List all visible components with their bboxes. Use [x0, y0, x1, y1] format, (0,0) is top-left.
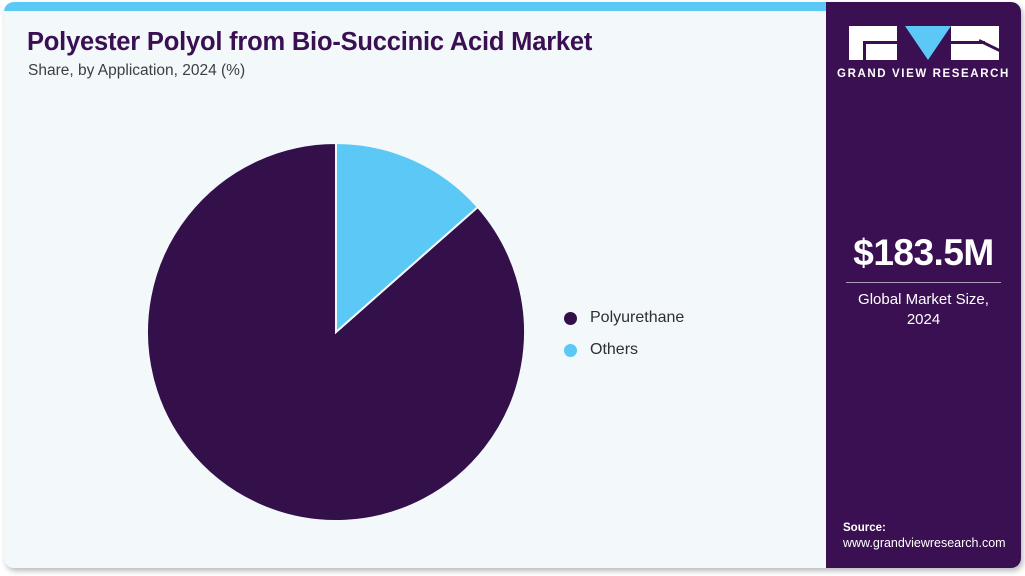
- legend-item-label: Polyurethane: [590, 309, 684, 327]
- legend-item-polyurethane[interactable]: Polyurethane: [564, 302, 684, 334]
- logo-wordmark: GRAND VIEW RESEARCH: [826, 68, 1021, 80]
- legend-item-others[interactable]: Others: [564, 334, 684, 366]
- logo-letter-g-icon: [849, 26, 897, 60]
- market-size-value: $183.5M: [826, 234, 1021, 273]
- gvr-logo-mark: [849, 26, 999, 60]
- legend-swatch-icon: [564, 312, 577, 325]
- chart-legend: Polyurethane Others: [564, 302, 684, 366]
- pie-chart: [4, 2, 826, 568]
- legend-swatch-icon: [564, 344, 577, 357]
- logo-letter-r-icon: [951, 26, 999, 60]
- source-url[interactable]: www.grandviewresearch.com: [843, 536, 1021, 550]
- source-title: Source:: [843, 522, 1021, 534]
- pie-chart-svg: [4, 2, 826, 568]
- market-size-label: Global Market Size, 2024: [826, 290, 1021, 331]
- gvr-logo: GRAND VIEW RESEARCH: [826, 26, 1021, 80]
- brand-sidebar: GRAND VIEW RESEARCH $183.5M Global Marke…: [826, 2, 1021, 568]
- chart-card: Polyester Polyol from Bio-Succinic Acid …: [4, 2, 1021, 568]
- source-block: Source: www.grandviewresearch.com: [843, 522, 1021, 550]
- legend-item-label: Others: [590, 341, 638, 359]
- market-size-stat: $183.5M Global Market Size, 2024: [826, 234, 1021, 330]
- logo-letter-v-triangle-icon: [905, 26, 951, 60]
- stat-divider: [846, 282, 1001, 283]
